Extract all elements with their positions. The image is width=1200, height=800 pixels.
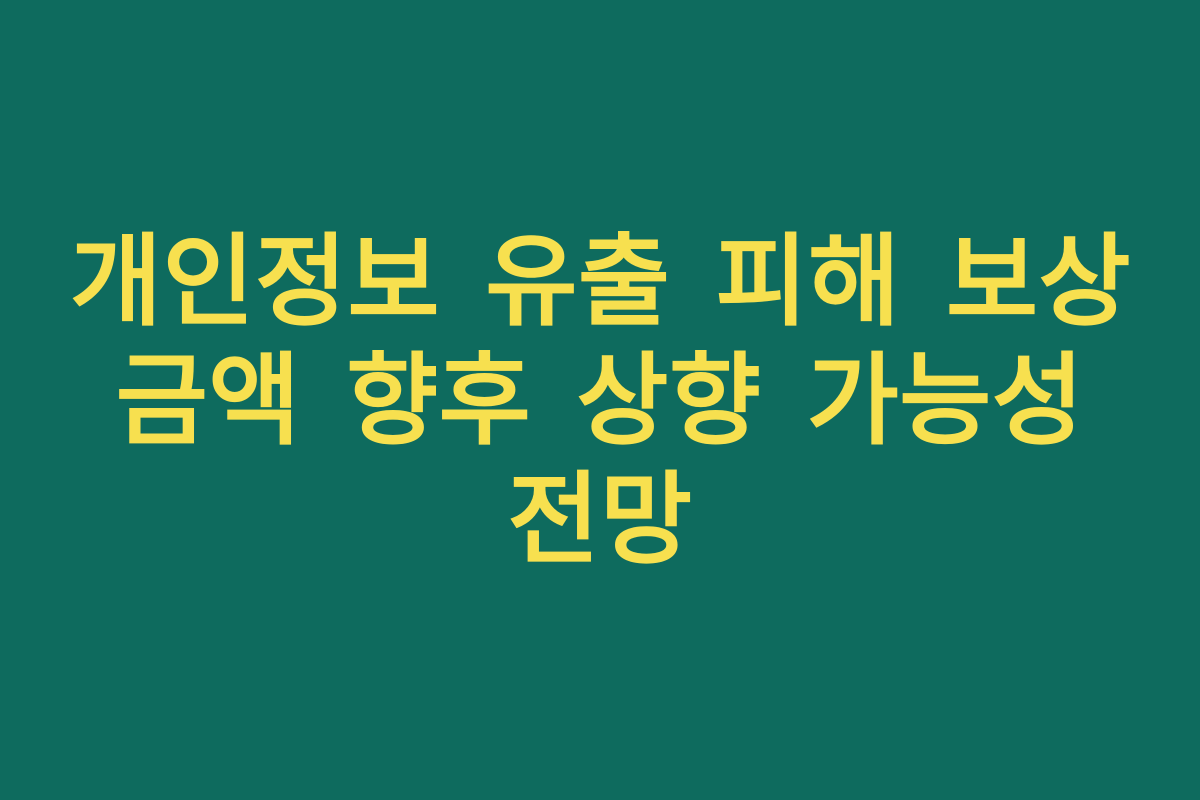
headline-text: 개인정보 유출 피해 보상 금액 향후 상향 가능성 전망 — [70, 222, 1130, 579]
headline-line-1: 개인정보 유출 피해 보상 — [70, 222, 1130, 341]
title-card: 개인정보 유출 피해 보상 금액 향후 상향 가능성 전망 — [0, 0, 1200, 800]
headline-line-3: 전망 — [70, 460, 1130, 579]
headline-line-2: 금액 향후 상향 가능성 — [70, 341, 1130, 460]
